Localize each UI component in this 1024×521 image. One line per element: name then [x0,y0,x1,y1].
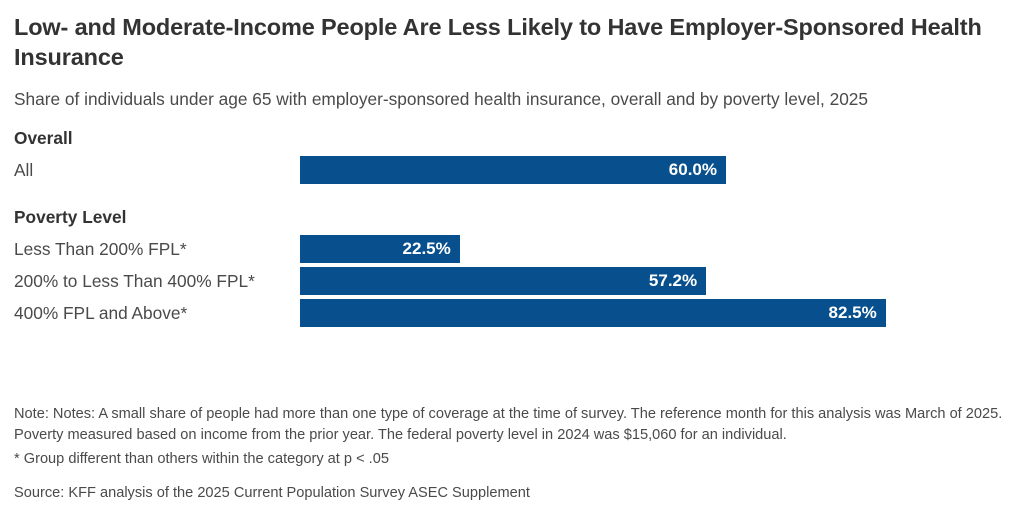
bar-less-than-200-fpl[interactable]: 22.5% [300,235,460,263]
bar-row[interactable]: All 60.0% [14,156,1010,184]
chart-subtitle: Share of individuals under age 65 with e… [14,72,1009,112]
source-text: Source: KFF analysis of the 2025 Current… [14,470,1010,504]
bar-value-label: 22.5% [403,240,460,257]
category-label: Less Than 200% FPL* [14,235,187,263]
bar-row[interactable]: 200% to Less Than 400% FPL* 57.2% [14,267,1010,295]
chart-footer: Note: Notes: A small share of people had… [14,404,1010,504]
bar-row[interactable]: 400% FPL and Above* 82.5% [14,299,1010,327]
bar-track: 57.2% [300,267,1010,295]
chart-title: Low- and Moderate-Income People Are Less… [14,0,989,72]
group-heading-overall: Overall [14,130,1010,150]
category-label: 200% to Less Than 400% FPL* [14,267,255,295]
plot-area: Overall All 60.0% Poverty Level Less Tha… [14,130,1010,327]
group-overall: Overall All 60.0% [14,130,1010,184]
bar-track: 82.5% [300,299,1010,327]
bar-value-label: 57.2% [649,272,706,289]
category-label: All [14,156,33,184]
note-text: Note: Notes: A small share of people had… [14,404,1010,447]
significance-footnote: * Group different than others within the… [14,447,1010,470]
category-label: 400% FPL and Above* [14,299,187,327]
chart-container: Low- and Moderate-Income People Are Less… [0,0,1024,521]
bar-all[interactable]: 60.0% [300,156,726,184]
bar-200-to-less-than-400-fpl[interactable]: 57.2% [300,267,706,295]
bar-value-label: 82.5% [829,304,886,321]
bar-row[interactable]: Less Than 200% FPL* 22.5% [14,235,1010,263]
group-poverty-level: Poverty Level Less Than 200% FPL* 22.5% … [14,209,1010,327]
bar-track: 60.0% [300,156,1010,184]
bar-400-fpl-and-above[interactable]: 82.5% [300,299,886,327]
bar-track: 22.5% [300,235,1010,263]
bar-value-label: 60.0% [669,161,726,178]
group-heading-poverty-level: Poverty Level [14,209,1010,229]
